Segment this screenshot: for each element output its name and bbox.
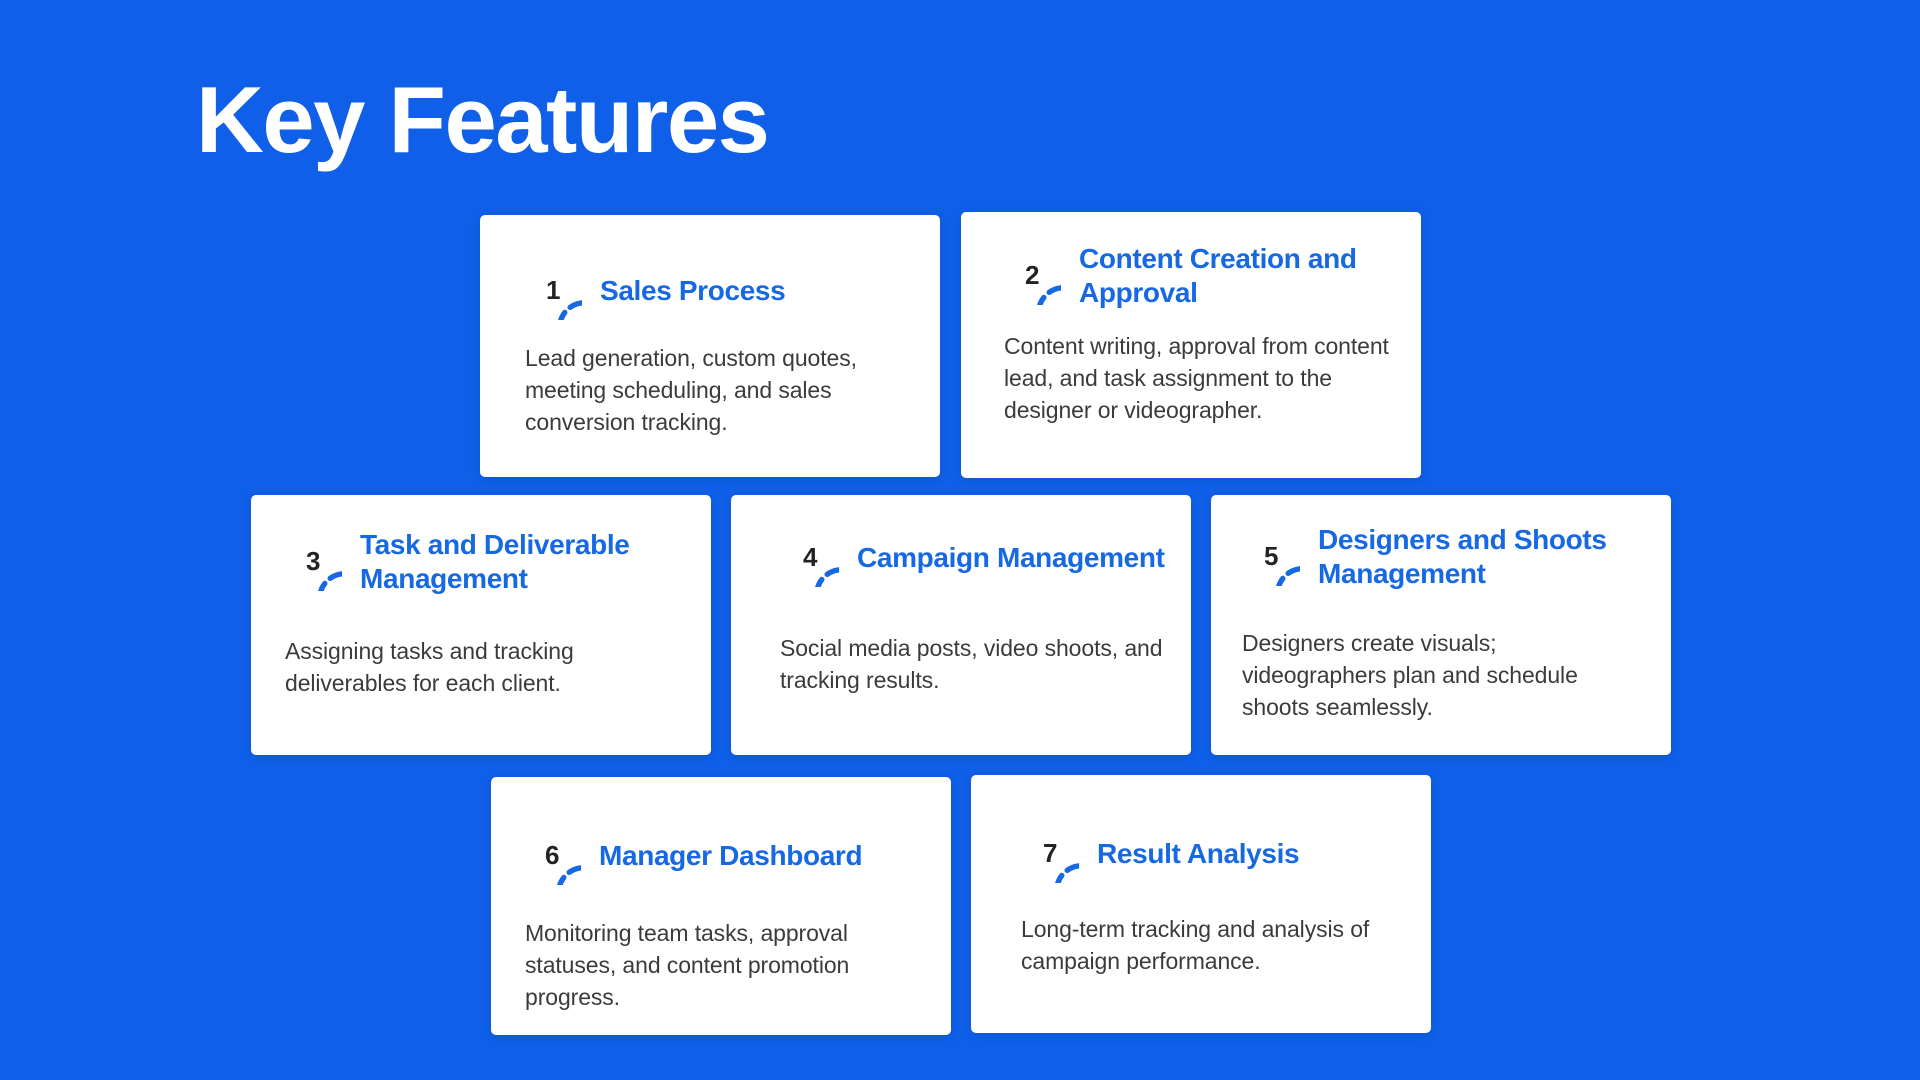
feature-number: 1	[524, 262, 582, 320]
feature-card-header: 3 Task and Deliverable Management	[284, 528, 696, 596]
feature-card-5[interactable]: 5 Designers and Shoots Management Design…	[1211, 495, 1671, 755]
feature-card-header: 5 Designers and Shoots Management	[1242, 523, 1664, 591]
number-ring-icon: 2	[1003, 247, 1061, 305]
feature-number: 7	[1021, 825, 1079, 883]
number-ring-icon: 7	[1021, 825, 1079, 883]
feature-card-1[interactable]: 1 Sales Process Lead generation, custom …	[480, 215, 940, 477]
feature-number: 3	[284, 533, 342, 591]
feature-description: Designers create visuals; videographers …	[1242, 627, 1642, 724]
feature-card-6[interactable]: 6 Manager Dashboard Monitoring team task…	[491, 777, 951, 1035]
slide-canvas: Key Features 1 Sales Process Lead genera…	[0, 0, 1920, 1080]
feature-title: Content Creation and Approval	[1079, 242, 1393, 310]
feature-card-4[interactable]: 4 Campaign Management Social media posts…	[731, 495, 1191, 755]
page-title: Key Features	[196, 72, 768, 168]
number-ring-icon: 5	[1242, 528, 1300, 586]
feature-title: Manager Dashboard	[599, 839, 862, 873]
feature-number: 5	[1242, 528, 1300, 586]
feature-title: Task and Deliverable Management	[360, 528, 696, 596]
feature-description: Social media posts, video shoots, and tr…	[780, 632, 1175, 696]
feature-description: Long-term tracking and analysis of campa…	[1021, 913, 1411, 977]
number-ring-icon: 3	[284, 533, 342, 591]
feature-title: Campaign Management	[857, 541, 1165, 575]
feature-description: Monitoring team tasks, approval statuses…	[525, 917, 925, 1014]
feature-title: Designers and Shoots Management	[1318, 523, 1664, 591]
feature-description: Lead generation, custom quotes, meeting …	[525, 342, 925, 439]
feature-description: Assigning tasks and tracking deliverable…	[285, 635, 685, 699]
feature-number: 4	[781, 529, 839, 587]
feature-card-header: 2 Content Creation and Approval	[1003, 242, 1393, 310]
number-ring-icon: 4	[781, 529, 839, 587]
feature-card-3[interactable]: 3 Task and Deliverable Management Assign…	[251, 495, 711, 755]
feature-card-header: 4 Campaign Management	[781, 529, 1181, 587]
feature-number: 2	[1003, 247, 1061, 305]
feature-title: Result Analysis	[1097, 837, 1299, 871]
feature-title: Sales Process	[600, 274, 785, 308]
number-ring-icon: 6	[523, 827, 581, 885]
feature-card-header: 1 Sales Process	[524, 262, 910, 320]
number-ring-icon: 1	[524, 262, 582, 320]
feature-number: 6	[523, 827, 581, 885]
feature-card-header: 6 Manager Dashboard	[523, 827, 935, 885]
feature-description: Content writing, approval from content l…	[1004, 330, 1399, 427]
feature-card-header: 7 Result Analysis	[1021, 825, 1421, 883]
feature-card-7[interactable]: 7 Result Analysis Long-term tracking and…	[971, 775, 1431, 1033]
feature-card-2[interactable]: 2 Content Creation and Approval Content …	[961, 212, 1421, 478]
